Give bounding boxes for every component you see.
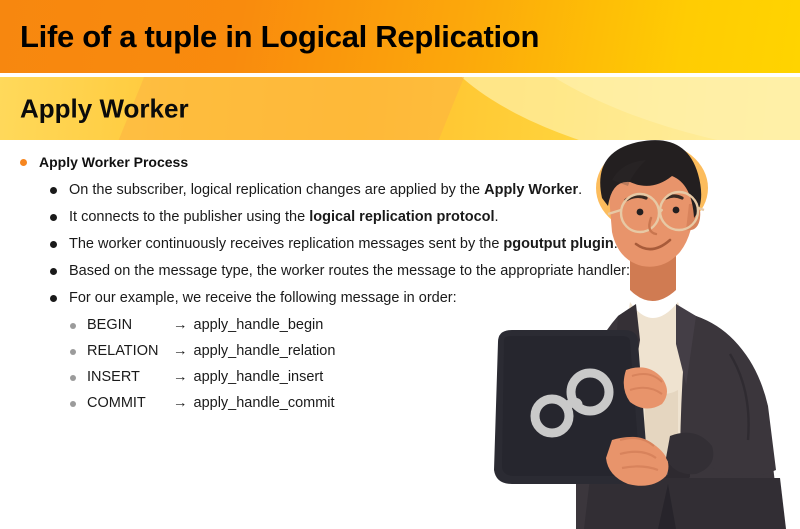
bullet-dot-icon <box>50 214 57 221</box>
message-name: RELATION <box>87 341 173 362</box>
section-heading: Apply Worker Process <box>39 152 188 172</box>
title-bar: Life of a tuple in Logical Replication <box>0 0 800 73</box>
bullet-text: On the subscriber, logical replication c… <box>69 180 582 201</box>
list-item: For our example, we receive the followin… <box>50 288 660 309</box>
bullet-text: Based on the message type, the worker ro… <box>69 261 630 282</box>
arrow-icon: → <box>173 315 188 336</box>
bullet-dot-icon <box>50 241 57 248</box>
bullet-dot-icon <box>20 159 27 166</box>
bullet-text: For our example, we receive the followin… <box>69 288 457 309</box>
bullet-dot-icon <box>50 268 57 275</box>
handler-name: apply_handle_commit <box>194 393 335 414</box>
message-name: COMMIT <box>87 393 173 414</box>
bullet-dot-icon <box>70 349 76 355</box>
bullet-dot-icon <box>70 323 76 329</box>
page-title: Life of a tuple in Logical Replication <box>20 19 539 55</box>
content-area: Apply Worker Process On the subscriber, … <box>0 152 660 419</box>
bullet-dot-icon <box>50 295 57 302</box>
message-map-row: RELATION → apply_handle_relation <box>70 341 660 362</box>
message-map-row: INSERT → apply_handle_insert <box>70 367 660 388</box>
section-subtitle: Apply Worker <box>20 93 189 124</box>
subtitle-banner: Apply Worker <box>0 77 800 140</box>
handler-name: apply_handle_relation <box>194 341 336 362</box>
list-item: Based on the message type, the worker ro… <box>50 261 660 282</box>
message-name: BEGIN <box>87 315 173 336</box>
arrow-icon: → <box>173 393 188 414</box>
list-item: On the subscriber, logical replication c… <box>50 180 660 201</box>
bullet-dot-icon <box>50 187 57 194</box>
section-heading-row: Apply Worker Process <box>20 152 660 172</box>
message-map-row: BEGIN → apply_handle_begin <box>70 315 660 336</box>
banner-curve-front <box>420 77 800 140</box>
bullet-dot-icon <box>70 375 76 381</box>
handler-name: apply_handle_insert <box>194 367 324 388</box>
message-map-row: COMMIT → apply_handle_commit <box>70 393 660 414</box>
bullet-dot-icon <box>70 401 76 407</box>
bullet-text: It connects to the publisher using the l… <box>69 207 499 228</box>
list-item: The worker continuously receives replica… <box>50 234 660 255</box>
slide-root: Life of a tuple in Logical Replication A… <box>0 0 800 529</box>
handler-name: apply_handle_begin <box>194 315 324 336</box>
arrow-icon: → <box>173 341 188 362</box>
arrow-icon: → <box>173 367 188 388</box>
bullet-text: The worker continuously receives replica… <box>69 234 618 255</box>
list-item: It connects to the publisher using the l… <box>50 207 660 228</box>
message-name: INSERT <box>87 367 173 388</box>
